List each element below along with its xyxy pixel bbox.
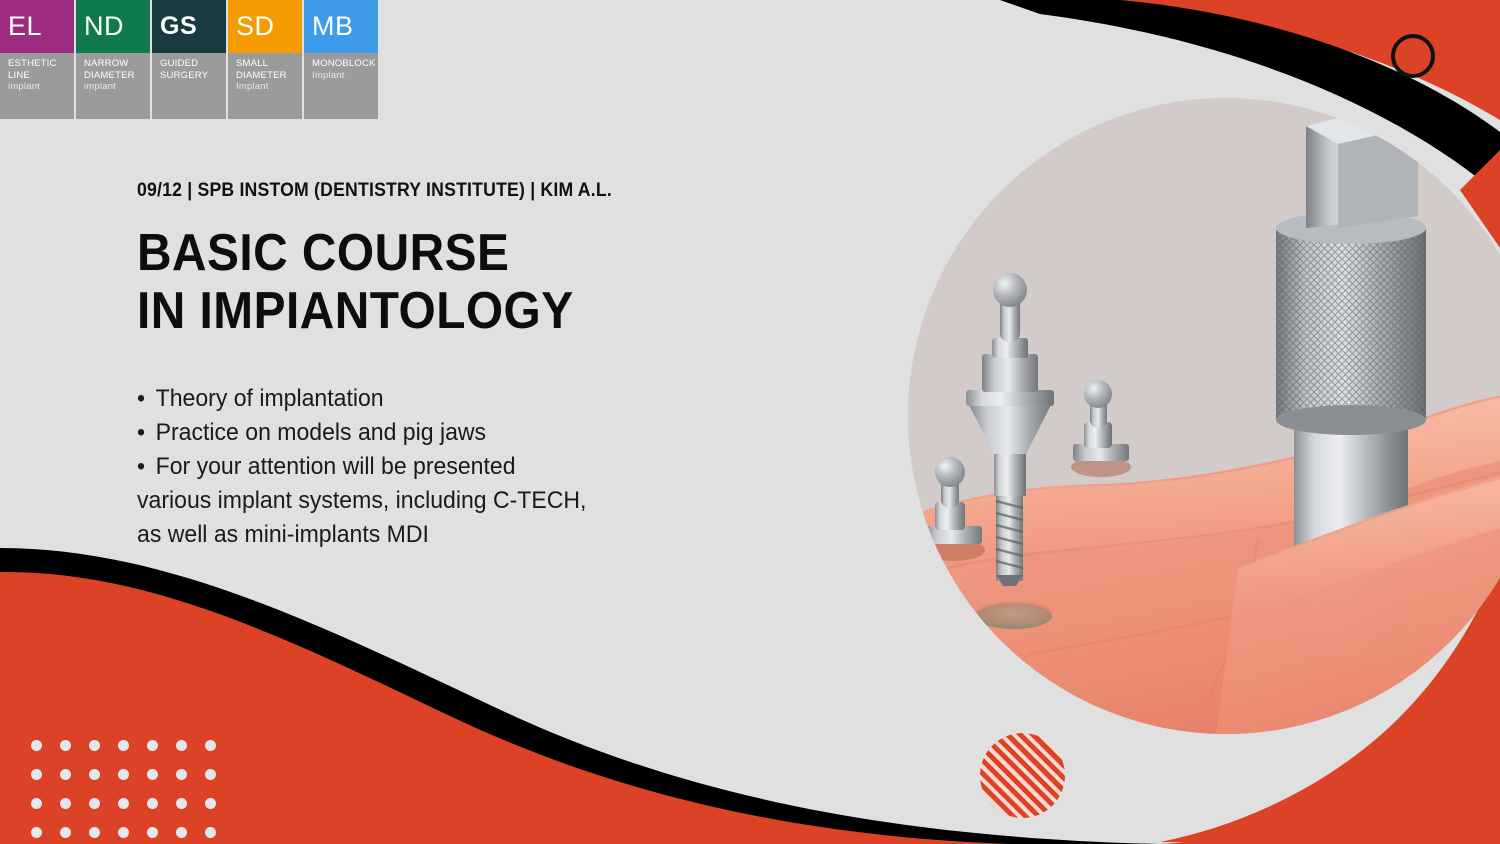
course-bullet-list: Theory of implantation Practice on model… xyxy=(137,382,627,552)
grid-dot xyxy=(89,798,100,809)
grid-dot xyxy=(31,769,42,780)
grid-dot xyxy=(60,740,71,751)
list-item: Theory of implantation xyxy=(137,382,627,416)
grid-dot xyxy=(176,740,187,751)
grid-dot xyxy=(31,798,42,809)
badge-gs[interactable]: GS GUIDED SURGERY xyxy=(152,0,226,119)
badge-line2: DIAMETER xyxy=(84,70,144,82)
grid-dot xyxy=(147,827,158,838)
grid-dot xyxy=(31,740,42,751)
list-item: For your attention will be presented xyxy=(137,450,627,484)
badge-sub-mb: MONOBLOCK Implant xyxy=(304,53,378,119)
grid-dot xyxy=(176,827,187,838)
badge-line1: ESTHETIC xyxy=(8,58,68,70)
badge-line3: implant xyxy=(84,81,144,93)
badge-nd[interactable]: ND NARROW DIAMETER implant xyxy=(76,0,150,119)
grid-dot xyxy=(147,798,158,809)
poster-canvas: EL ESTHETIC LINE implant ND NARROW DIAME… xyxy=(0,0,1500,844)
content-block: 09/12 | SPB INSTOM (DENTISTRY INSTITUTE)… xyxy=(137,180,648,552)
grid-dot xyxy=(118,798,129,809)
headline-line-2: IN IMPIANTOLOGY xyxy=(137,282,607,340)
badge-line1: GUIDED xyxy=(160,58,220,70)
badge-line3: Implant xyxy=(236,81,296,93)
badge-sub-sd: SMALL DIAMETER Implant xyxy=(228,53,302,119)
badge-code-mb: MB xyxy=(304,0,378,53)
list-item-continuation: various implant systems, including C-TEC… xyxy=(137,484,627,518)
page-title: BASIC COURSE IN IMPIANTOLOGY xyxy=(137,224,607,340)
grid-dot xyxy=(205,827,216,838)
badge-mb[interactable]: MB MONOBLOCK Implant xyxy=(304,0,378,119)
badge-line2: SURGERY xyxy=(160,70,220,82)
badge-el[interactable]: EL ESTHETIC LINE implant xyxy=(0,0,74,119)
badge-sub-gs: GUIDED SURGERY xyxy=(152,53,226,119)
implant-illustration xyxy=(908,98,1500,734)
badge-sd[interactable]: SD SMALL DIAMETER Implant xyxy=(228,0,302,119)
grid-dot xyxy=(205,798,216,809)
grid-dot xyxy=(60,827,71,838)
grid-dot xyxy=(176,798,187,809)
badge-code-gs: GS xyxy=(152,0,226,53)
badge-code-nd: ND xyxy=(76,0,150,53)
list-item: Practice on models and pig jaws xyxy=(137,416,627,450)
dot-grid-decoration xyxy=(31,740,234,844)
badge-line2: DIAMETER xyxy=(236,70,296,82)
badge-line1: MONOBLOCK xyxy=(312,58,372,70)
badge-sub-nd: NARROW DIAMETER implant xyxy=(76,53,150,119)
grid-dot xyxy=(89,740,100,751)
brand-badge-strip: EL ESTHETIC LINE implant ND NARROW DIAME… xyxy=(0,0,378,119)
grid-dot xyxy=(89,769,100,780)
grid-dot xyxy=(89,827,100,838)
badge-line2: LINE xyxy=(8,70,68,82)
grid-dot xyxy=(205,740,216,751)
badge-code-el: EL xyxy=(0,0,74,53)
badge-line3: implant xyxy=(8,81,68,93)
grid-dot xyxy=(118,827,129,838)
grid-dot xyxy=(118,740,129,751)
badge-line1: NARROW xyxy=(84,58,144,70)
grid-dot xyxy=(176,769,187,780)
outline-circle-icon xyxy=(1391,34,1435,78)
grid-dot xyxy=(147,769,158,780)
grid-dot xyxy=(147,740,158,751)
list-item-continuation: as well as mini-implants MDI xyxy=(137,518,627,552)
grid-dot xyxy=(60,798,71,809)
grid-dot xyxy=(31,827,42,838)
headline-line-1: BASIC COURSE xyxy=(137,224,607,282)
grid-dot xyxy=(60,769,71,780)
badge-sub-el: ESTHETIC LINE implant xyxy=(0,53,74,119)
event-kicker: 09/12 | SPB INSTOM (DENTISTRY INSTITUTE)… xyxy=(137,180,612,202)
badge-code-sd: SD xyxy=(228,0,302,53)
grid-dot xyxy=(205,769,216,780)
badge-line1: SMALL xyxy=(236,58,296,70)
grid-dot xyxy=(118,769,129,780)
implant-photo-circle xyxy=(908,98,1500,734)
striped-circle-decoration xyxy=(980,733,1065,818)
badge-line2: Implant xyxy=(312,70,372,82)
